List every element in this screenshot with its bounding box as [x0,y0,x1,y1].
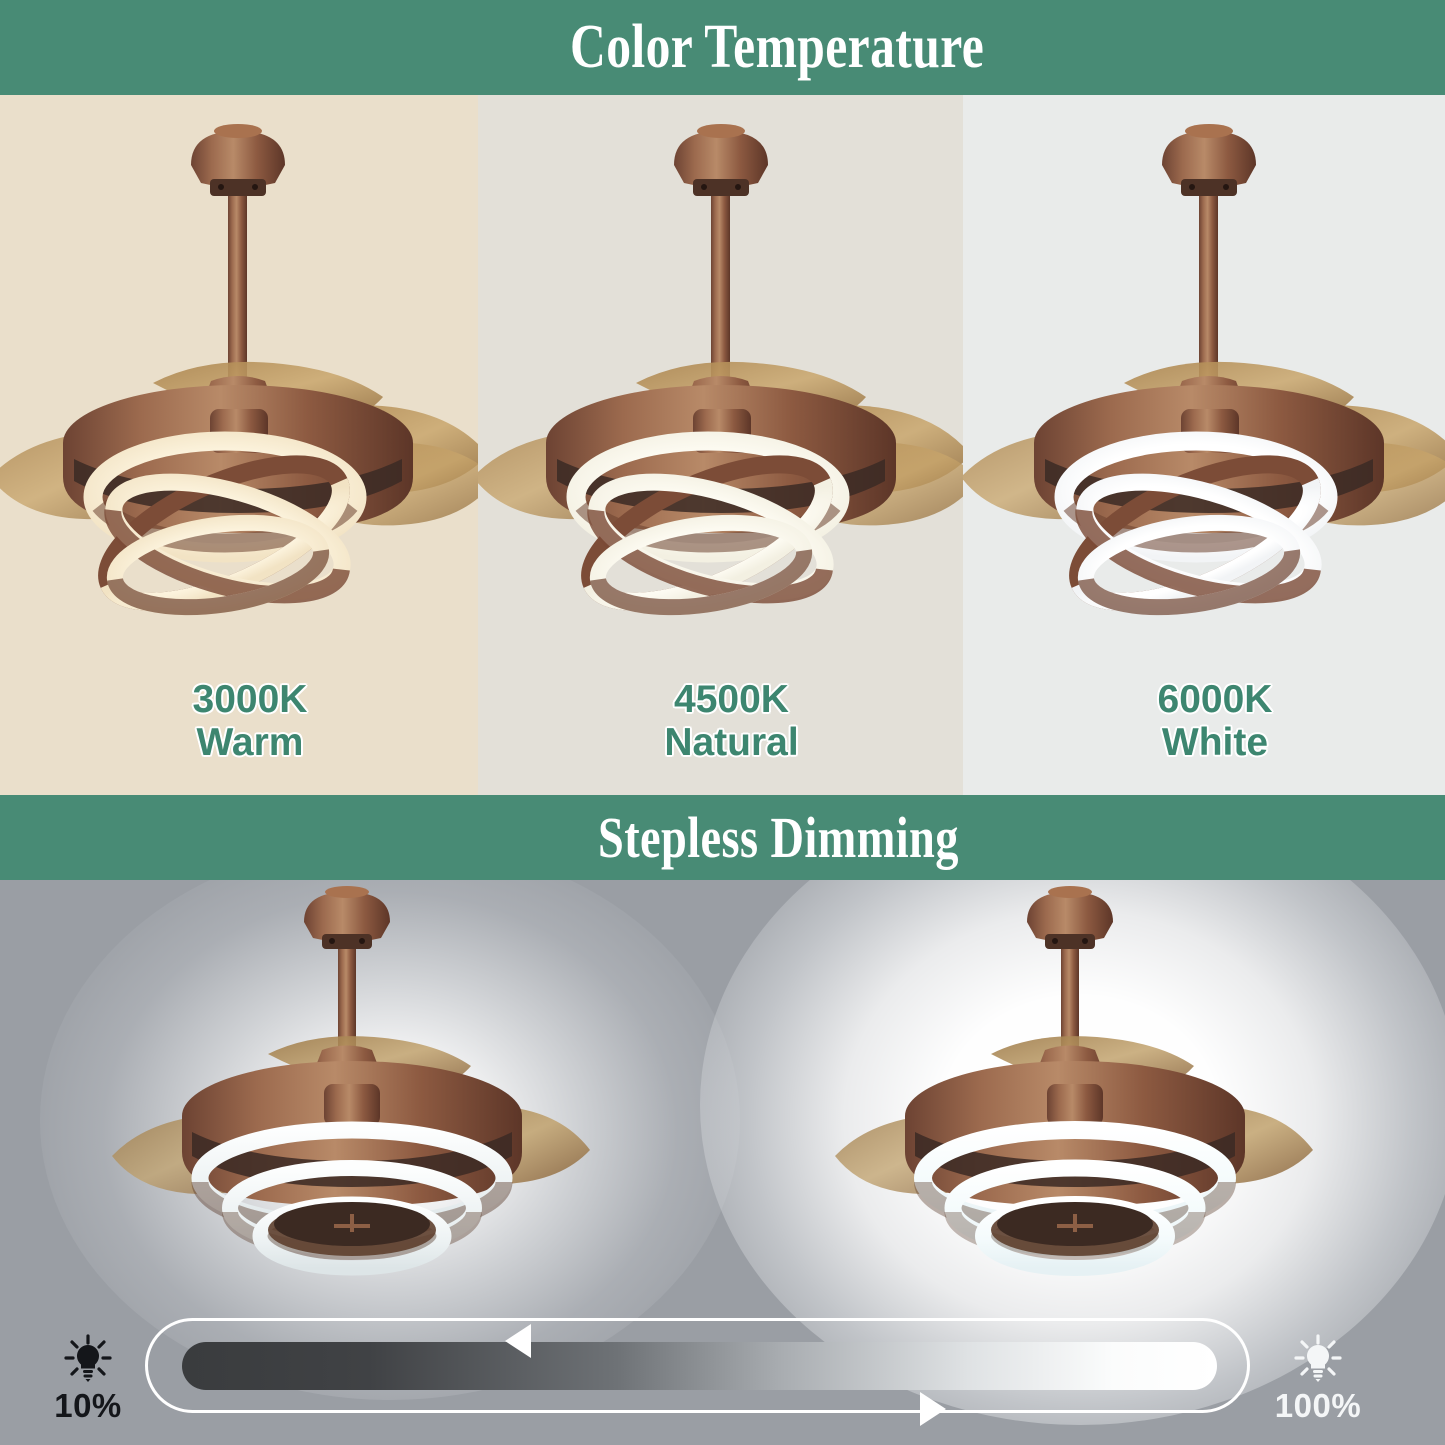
arrow-right-icon[interactable] [920,1392,946,1426]
label-6000k-white: 6000K White [963,678,1445,765]
color-temperature-banner: Color Temperature [0,0,1445,95]
stepless-dimming-banner: Stepless Dimming [0,795,1445,880]
label-3000k-warm: 3000K Warm [0,678,478,765]
label-4500k-natural: 4500K Natural [478,678,963,765]
ceiling-fan-fixture-dimmed [72,880,632,1318]
dimmer-slider[interactable]: 10% [0,1310,1445,1445]
light-bulb-icon [1292,1332,1344,1384]
min-brightness-value: 10% [28,1387,148,1425]
color-temperature-panel-3000k: 3000K Warm [0,95,478,795]
color-temperature-panels: 3000K Warm [0,95,1445,795]
light-bulb-icon [62,1332,114,1384]
ceiling-fan-fixture-bright [795,880,1355,1318]
min-brightness-indicator: 10% [28,1332,148,1425]
ceiling-fan-fixture-6000k [963,113,1445,713]
max-brightness-value: 100% [1258,1387,1378,1425]
ceiling-fan-fixture-4500k [478,113,963,713]
arrow-left-icon[interactable] [505,1324,531,1358]
color-temperature-panel-4500k: 4500K Natural [478,95,963,795]
color-temperature-title: Color Temperature [570,12,984,83]
stepless-dimming-title: Stepless Dimming [598,804,959,871]
ceiling-fan-fixture-3000k [0,113,478,713]
infographic-page: Color Temperature [0,0,1445,1445]
stepless-dimming-section: 10% [0,880,1445,1445]
color-temperature-panel-6000k: 6000K White [963,95,1445,795]
max-brightness-indicator: 100% [1258,1332,1378,1425]
dimmer-gradient-bar[interactable] [182,1342,1217,1390]
